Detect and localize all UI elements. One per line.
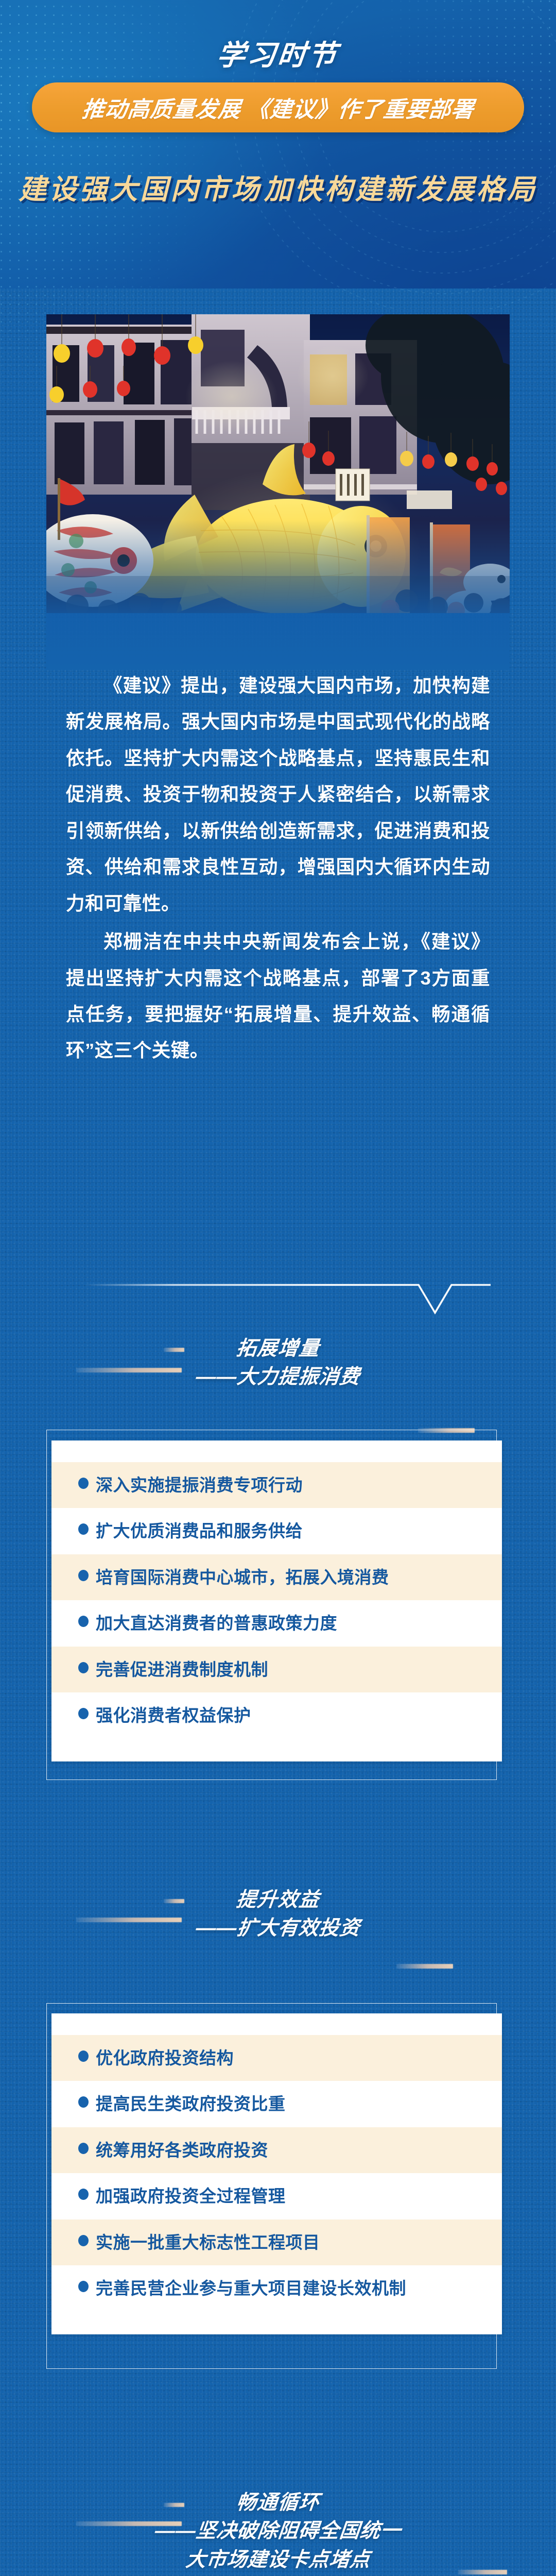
list-item: 优化政府投资结构 — [51, 2035, 502, 2081]
list-item-text: 统筹用好各类政府投资 — [96, 2137, 268, 2164]
list-item-text: 提高民生类政府投资比重 — [96, 2090, 286, 2117]
decorative-dash-2c — [396, 1964, 453, 1969]
list-item: 加强政府投资全过程管理 — [51, 2173, 502, 2219]
section-1-title: 拓展增量 — [0, 1334, 556, 1363]
list-item: 完善促进消费制度机制 — [51, 1647, 502, 1692]
bullet-dot-icon — [78, 2049, 89, 2062]
bullet-dot-icon — [78, 1522, 89, 1535]
infographic-poster: 学习时节 推动高质量发展 《建议》作了重要部署 建设强大国内市场 加快构建新发展… — [0, 0, 556, 2576]
list-item-text: 完善促进消费制度机制 — [96, 1656, 268, 1683]
headline-line-2: 加快构建新发展格局 — [264, 174, 537, 205]
bullet-dot-icon — [78, 2234, 89, 2246]
decorative-dash-3c — [458, 2570, 507, 2574]
section-3-title: 畅通循环 — [0, 2488, 556, 2517]
list-item-text: 加大直达消费者的普惠政策力度 — [96, 1609, 337, 1637]
headline-line-1: 建设强大国内市场 — [19, 174, 262, 205]
list-item: 深入实施提振消费专项行动 — [51, 1462, 502, 1508]
list-item: 培育国际消费中心城市，拓展入境消费 — [51, 1554, 502, 1600]
list-item-text: 加强政府投资全过程管理 — [96, 2182, 286, 2210]
list-item-text: 完善民营企业参与重大项目建设长效机制 — [96, 2275, 406, 2302]
bullet-dot-icon — [78, 2280, 89, 2292]
decorative-dash-3a — [164, 2503, 184, 2507]
list-item-text: 优化政府投资结构 — [96, 2044, 234, 2072]
list-item-text: 强化消费者权益保护 — [96, 1702, 251, 1729]
decorative-dash-1a — [164, 1348, 184, 1352]
brand-title-text: 学习时节 — [215, 32, 341, 73]
decorative-dash-1b — [76, 1368, 182, 1372]
brand-title: 学习时节 — [0, 32, 556, 73]
bullet-dot-icon — [78, 2095, 89, 2108]
list-item: 提高民生类政府投资比重 — [51, 2081, 502, 2127]
bullet-dot-icon — [78, 1661, 89, 1673]
list-item-text: 深入实施提振消费专项行动 — [96, 1471, 303, 1499]
bullet-dot-icon — [78, 1707, 89, 1719]
list-item: 扩大优质消费品和服务供给 — [51, 1508, 502, 1554]
list-item: 统筹用好各类政府投资 — [51, 2127, 502, 2173]
list-item: 完善民营企业参与重大项目建设长效机制 — [51, 2265, 502, 2311]
bullet-card-1: 深入实施提振消费专项行动 扩大优质消费品和服务供给 培育国际消费中心城市，拓展入… — [51, 1440, 502, 1761]
article-body: 《建议》提出，建设强大国内市场，加快构建新发展格局。强大国内市场是中国式现代化的… — [66, 668, 490, 1069]
decorative-dash-2b — [76, 1918, 182, 1922]
subtitle-pill-text: 推动高质量发展 《建议》作了重要部署 — [80, 92, 475, 124]
decorative-dash-2a — [164, 1899, 184, 1903]
list-item: 实施一批重大标志性工程项目 — [51, 2219, 502, 2265]
list-item: 强化消费者权益保护 — [51, 1692, 502, 1738]
bullet-dot-icon — [78, 1569, 89, 1581]
list-item-text: 实施一批重大标志性工程项目 — [96, 2229, 320, 2256]
bullet-dot-icon — [78, 1477, 89, 1489]
list-item-text: 培育国际消费中心城市，拓展入境消费 — [96, 1564, 389, 1591]
bullet-card-2: 优化政府投资结构 提高民生类政府投资比重 统筹用好各类政府投资 加强政府投资全过… — [51, 2013, 502, 2334]
divider-with-notch — [63, 1279, 491, 1320]
bullet-dot-icon — [78, 2142, 89, 2154]
night-street-lantern-festival-photo — [46, 314, 510, 613]
section-header-2: 提升效益 ——扩大有效投资 — [0, 1886, 556, 1943]
section-header-3: 畅通循环 ——坚决破除阻碍全国统一 大市场建设卡点堵点 — [0, 2488, 556, 2574]
bullet-dot-icon — [78, 2188, 89, 2200]
section-1-subtitle: ——大力提振消费 — [0, 1363, 556, 1391]
section-header-1: 拓展增量 ——大力提振消费 — [0, 1334, 556, 1392]
subtitle-pill: 推动高质量发展 《建议》作了重要部署 — [32, 82, 524, 132]
bullet-dot-icon — [78, 1615, 89, 1627]
list-item-text: 扩大优质消费品和服务供给 — [96, 1517, 303, 1545]
decorative-dash-1c — [418, 1428, 475, 1433]
page-title: 建设强大国内市场 加快构建新发展格局 — [0, 171, 556, 208]
body-paragraph-1: 《建议》提出，建设强大国内市场，加快构建新发展格局。强大国内市场是中国式现代化的… — [66, 668, 490, 922]
body-paragraph-2: 郑栅洁在中共中央新闻发布会上说，《建议》提出坚持扩大内需这个战略基点，部署了3方… — [66, 924, 490, 1069]
list-item: 加大直达消费者的普惠政策力度 — [51, 1600, 502, 1646]
decorative-dash-3b — [76, 2521, 182, 2526]
section-2-title: 提升效益 — [0, 1886, 556, 1914]
